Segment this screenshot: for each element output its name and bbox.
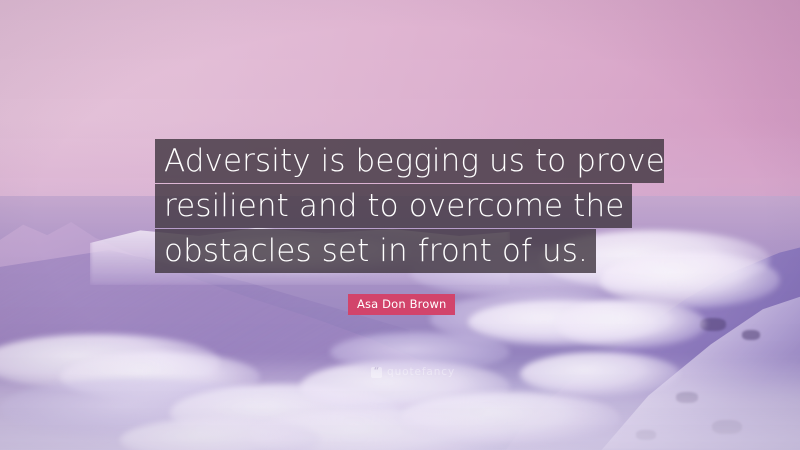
author-badge: Asa Don Brown <box>348 294 455 315</box>
quote-line: obstacles set in front of us. <box>155 229 596 273</box>
quote-text-block: Adversity is begging us to prove resilie… <box>155 139 647 274</box>
watermark-brand: quotefancy <box>387 366 455 378</box>
quote-poster: Adversity is begging us to prove resilie… <box>0 0 800 450</box>
quote-line: resilient and to overcome the <box>155 184 632 228</box>
watermark: “ quotefancy <box>371 366 455 378</box>
quote-mark-icon: “ <box>371 367 382 378</box>
quote-line: Adversity is begging us to prove <box>155 139 664 183</box>
